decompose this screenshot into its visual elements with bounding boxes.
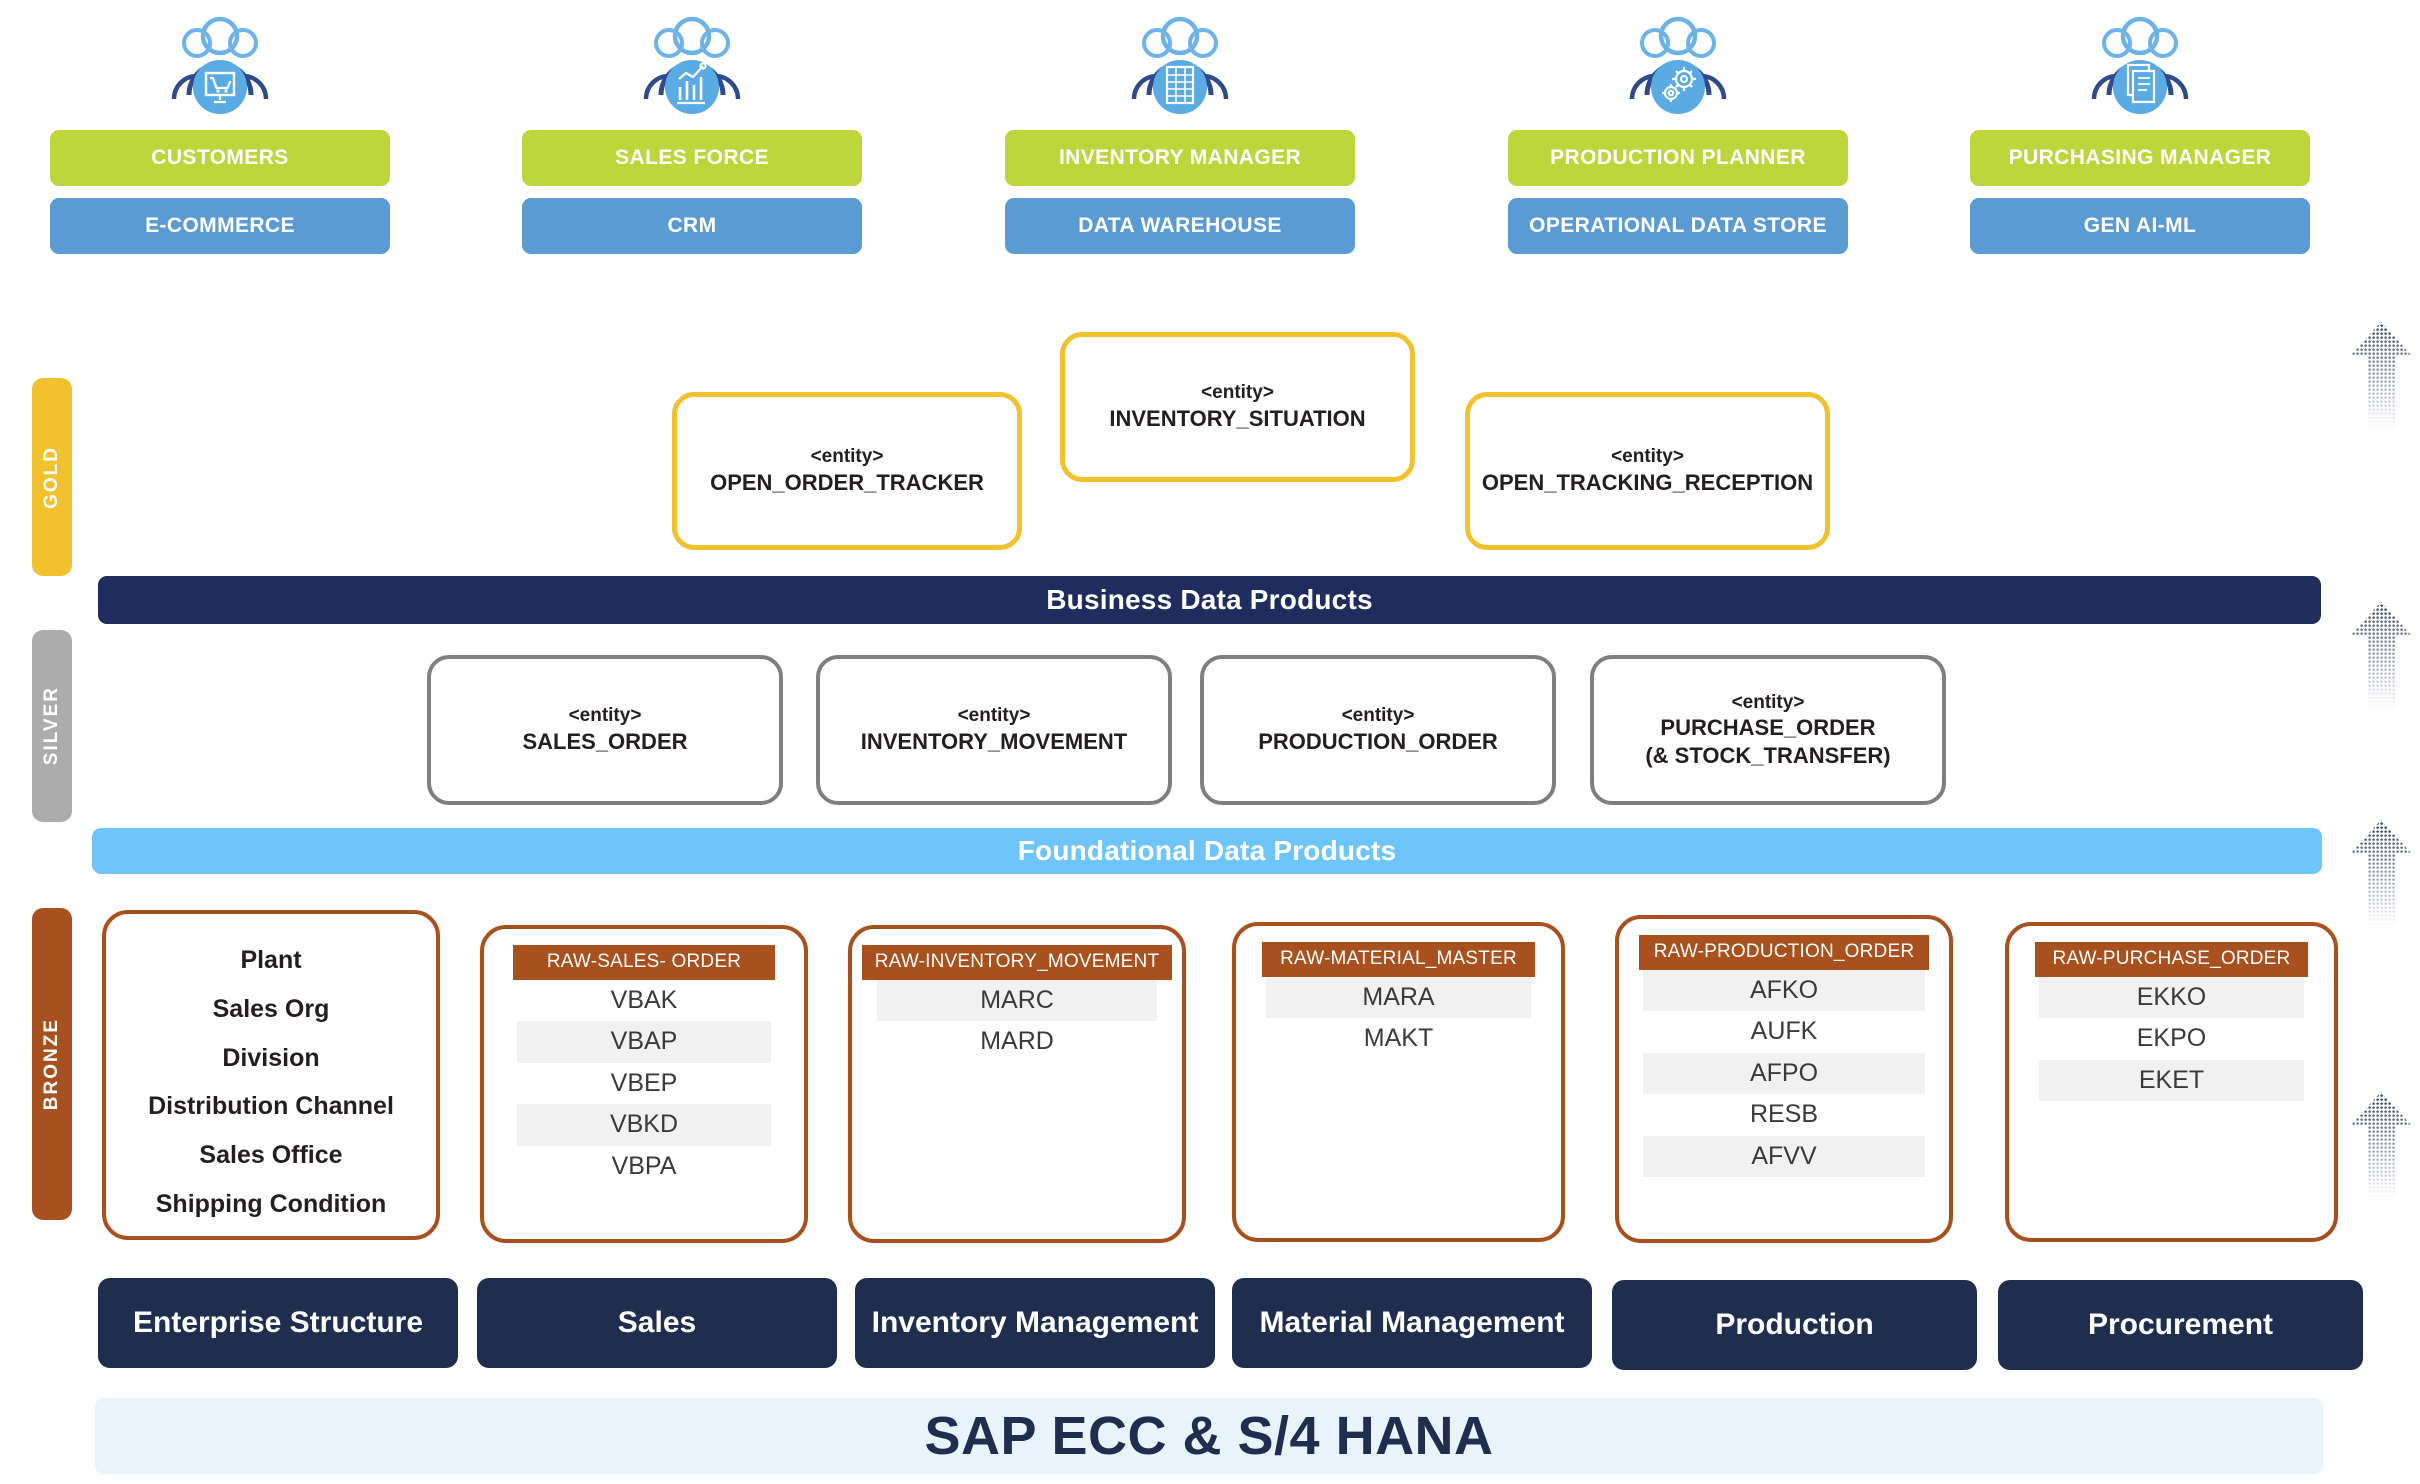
entity-name: OPEN_ORDER_TRACKER xyxy=(710,469,984,497)
persona-system-chip[interactable]: CRM xyxy=(522,198,862,254)
module-chip-sales[interactable]: Sales xyxy=(477,1278,837,1368)
silver-entity-sales-order[interactable]: <entity> SALES_ORDER xyxy=(427,655,783,805)
platform-footer-label: SAP ECC & S/4 HANA xyxy=(924,1405,1493,1467)
persona-column-inventory-manager: INVENTORY MANAGER DATA WAREHOUSE xyxy=(1005,0,1355,254)
bronze-row: MAKT xyxy=(1266,1018,1531,1060)
bronze-card-header: RAW-INVENTORY_MOVEMENT xyxy=(862,945,1172,980)
bronze-row: EKKO xyxy=(2039,977,2304,1019)
bronze-row: Shipping Condition xyxy=(106,1180,436,1229)
bronze-row: VBKD xyxy=(517,1104,771,1146)
entity-tag: <entity> xyxy=(958,704,1031,728)
persona-role-chip[interactable]: PURCHASING MANAGER xyxy=(1970,130,2310,186)
dotted-up-arrow-icon xyxy=(2348,818,2414,928)
entity-tag: <entity> xyxy=(569,704,642,728)
people-cart-icon xyxy=(50,0,390,130)
layer-tab-gold: GOLD xyxy=(32,378,72,576)
bronze-row: MARD xyxy=(877,1021,1157,1063)
silver-entity-purchase-order[interactable]: <entity> PURCHASE_ORDER (& STOCK_TRANSFE… xyxy=(1590,655,1946,805)
bronze-row: VBAP xyxy=(517,1021,771,1063)
silver-entity-inventory-movement[interactable]: <entity> INVENTORY_MOVEMENT xyxy=(816,655,1172,805)
entity-name: INVENTORY_MOVEMENT xyxy=(861,728,1127,756)
bronze-card-header: RAW-SALES- ORDER xyxy=(513,945,775,980)
persona-system-chip[interactable]: GEN AI-ML xyxy=(1970,198,2310,254)
persona-system-chip[interactable]: DATA WAREHOUSE xyxy=(1005,198,1355,254)
bronze-row: AFKO xyxy=(1643,970,1925,1012)
bronze-row: Sales Office xyxy=(106,1131,436,1180)
gold-entity-inventory-situation[interactable]: <entity> INVENTORY_SITUATION xyxy=(1060,332,1415,482)
dotted-up-arrow-icon xyxy=(2348,320,2414,430)
people-table-icon xyxy=(1005,0,1355,130)
gold-entity-open-order-tracker[interactable]: <entity> OPEN_ORDER_TRACKER xyxy=(672,392,1022,550)
entity-name: SALES_ORDER xyxy=(522,728,687,756)
bronze-row: EKET xyxy=(2039,1060,2304,1102)
persona-system-chip[interactable]: E-COMMERCE xyxy=(50,198,390,254)
bronze-card-header: RAW-PURCHASE_ORDER xyxy=(2035,942,2308,977)
band-label: Business Data Products xyxy=(1046,584,1373,616)
dotted-up-arrow-icon xyxy=(2348,600,2414,710)
entity-tag: <entity> xyxy=(1201,381,1274,405)
dotted-up-arrow-icon xyxy=(2348,1090,2414,1200)
bronze-row: AFVV xyxy=(1643,1136,1925,1178)
entity-name: INVENTORY_SITUATION xyxy=(1109,405,1365,433)
people-gear-icon xyxy=(1508,0,1848,130)
bronze-card-raw-material-master[interactable]: RAW-MATERIAL_MASTER MARA MAKT xyxy=(1232,922,1565,1242)
bronze-card-raw-inventory-movement[interactable]: RAW-INVENTORY_MOVEMENT MARC MARD xyxy=(848,925,1186,1243)
bronze-row: RESB xyxy=(1643,1094,1925,1136)
bronze-row: VBAK xyxy=(517,980,771,1022)
module-chip-enterprise-structure[interactable]: Enterprise Structure xyxy=(98,1278,458,1368)
foundational-data-products-band: Foundational Data Products xyxy=(92,828,2322,874)
module-chip-inventory-management[interactable]: Inventory Management xyxy=(855,1278,1215,1368)
persona-column-customers: CUSTOMERS E-COMMERCE xyxy=(50,0,390,254)
bronze-card-enterprise-structure[interactable]: Plant Sales Org Division Distribution Ch… xyxy=(102,910,440,1240)
bronze-card-raw-purchase-order[interactable]: RAW-PURCHASE_ORDER EKKO EKPO EKET xyxy=(2005,922,2338,1242)
persona-role-chip[interactable]: PRODUCTION PLANNER xyxy=(1508,130,1848,186)
layer-tab-label: BRONZE xyxy=(41,1018,63,1110)
people-document-icon xyxy=(1970,0,2310,130)
layer-tab-silver: SILVER xyxy=(32,630,72,822)
entity-tag: <entity> xyxy=(811,445,884,469)
persona-column-purchasing-manager: PURCHASING MANAGER GEN AI-ML xyxy=(1970,0,2310,254)
bronze-row: VBEP xyxy=(517,1063,771,1105)
band-label: Foundational Data Products xyxy=(1018,835,1397,867)
persona-column-sales-force: SALES FORCE CRM xyxy=(522,0,862,254)
layer-tab-label: SILVER xyxy=(41,686,63,765)
entity-name: PRODUCTION_ORDER xyxy=(1258,728,1498,756)
bronze-row: EKPO xyxy=(2039,1018,2304,1060)
bronze-row: Plant xyxy=(106,936,436,985)
business-data-products-band: Business Data Products xyxy=(98,576,2321,624)
layer-tab-bronze: BRONZE xyxy=(32,908,72,1220)
entity-tag: <entity> xyxy=(1342,704,1415,728)
bronze-row: VBPA xyxy=(517,1146,771,1188)
persona-system-chip[interactable]: OPERATIONAL DATA STORE xyxy=(1508,198,1848,254)
bronze-card-header: RAW-PRODUCTION_ORDER xyxy=(1639,935,1929,970)
entity-tag: <entity> xyxy=(1732,691,1805,715)
module-chip-procurement[interactable]: Procurement xyxy=(1998,1280,2363,1370)
persona-column-production-planner: PRODUCTION PLANNER OPERATIONAL DATA STOR… xyxy=(1508,0,1848,254)
bronze-card-raw-sales-order[interactable]: RAW-SALES- ORDER VBAK VBAP VBEP VBKD VBP… xyxy=(480,925,808,1243)
entity-name: PURCHASE_ORDER xyxy=(1660,714,1875,742)
bronze-card-header: RAW-MATERIAL_MASTER xyxy=(1262,942,1535,977)
gold-entity-open-tracking-reception[interactable]: <entity> OPEN_TRACKING_RECEPTION xyxy=(1465,392,1830,550)
persona-role-chip[interactable]: INVENTORY MANAGER xyxy=(1005,130,1355,186)
bronze-row: MARA xyxy=(1266,977,1531,1019)
bronze-row: MARC xyxy=(877,980,1157,1022)
module-chip-production[interactable]: Production xyxy=(1612,1280,1977,1370)
platform-footer: SAP ECC & S/4 HANA xyxy=(95,1398,2323,1474)
module-chip-material-management[interactable]: Material Management xyxy=(1232,1278,1592,1368)
persona-role-chip[interactable]: SALES FORCE xyxy=(522,130,862,186)
entity-name: OPEN_TRACKING_RECEPTION xyxy=(1482,469,1813,497)
diagram-canvas: CUSTOMERS E-COMMERCE SALES FORCE CRM xyxy=(0,0,2420,1484)
bronze-row: AUFK xyxy=(1643,1011,1925,1053)
bronze-row: Division xyxy=(106,1034,436,1083)
entity-tag: <entity> xyxy=(1611,445,1684,469)
persona-role-chip[interactable]: CUSTOMERS xyxy=(50,130,390,186)
people-chart-icon xyxy=(522,0,862,130)
entity-name-secondary: (& STOCK_TRANSFER) xyxy=(1645,742,1890,770)
layer-tab-label: GOLD xyxy=(41,446,63,509)
bronze-row: Sales Org xyxy=(106,985,436,1034)
bronze-card-raw-production-order[interactable]: RAW-PRODUCTION_ORDER AFKO AUFK AFPO RESB… xyxy=(1615,915,1953,1243)
bronze-row: Distribution Channel xyxy=(106,1082,436,1131)
bronze-row: AFPO xyxy=(1643,1053,1925,1095)
silver-entity-production-order[interactable]: <entity> PRODUCTION_ORDER xyxy=(1200,655,1556,805)
